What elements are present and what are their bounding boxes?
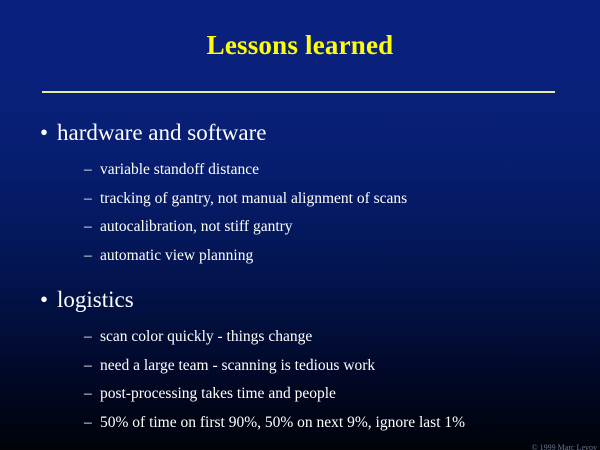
sub-bullet-label: tracking of gantry, not manual alignment… xyxy=(100,190,407,207)
spacer xyxy=(0,270,600,285)
en-dash-icon: – xyxy=(84,352,92,381)
bullet-group-hardware-and-software: • hardware and software – variable stand… xyxy=(0,118,600,270)
en-dash-icon: – xyxy=(84,323,92,352)
title-divider-rule xyxy=(42,91,555,93)
bullet-level1-label: hardware and software xyxy=(57,120,266,145)
sub-bullet-label: 50% of time on first 90%, 50% on next 9%… xyxy=(100,414,465,431)
presentation-slide: Lessons learned • hardware and software … xyxy=(0,0,600,450)
bullet-level1-label: logistics xyxy=(57,287,134,312)
sub-bullet-label: post-processing takes time and people xyxy=(100,385,336,402)
sub-bullet-item: – tracking of gantry, not manual alignme… xyxy=(0,185,600,214)
en-dash-icon: – xyxy=(84,380,92,409)
sub-bullet-item: – variable standoff distance xyxy=(0,156,600,185)
bullet-item-level1: • logistics xyxy=(0,285,600,315)
sub-bullet-list: – variable standoff distance – tracking … xyxy=(0,156,600,270)
en-dash-icon: – xyxy=(84,185,92,214)
sub-bullet-item: – autocalibration, not stiff gantry xyxy=(0,213,600,242)
bullet-dot-icon: • xyxy=(40,118,48,148)
copyright-notice: © 1999 Marc Levoy xyxy=(532,443,597,450)
bullet-item-level1: • hardware and software xyxy=(0,118,600,148)
sub-bullet-item: – need a large team - scanning is tediou… xyxy=(0,352,600,381)
sub-bullet-item: – automatic view planning xyxy=(0,242,600,271)
slide-body: • hardware and software – variable stand… xyxy=(0,118,600,437)
spacer xyxy=(0,315,600,323)
sub-bullet-label: variable standoff distance xyxy=(100,161,259,178)
sub-bullet-item: – 50% of time on first 90%, 50% on next … xyxy=(0,409,600,438)
sub-bullet-label: autocalibration, not stiff gantry xyxy=(100,218,293,235)
bullet-group-logistics: • logistics – scan color quickly - thing… xyxy=(0,285,600,437)
sub-bullet-label: need a large team - scanning is tedious … xyxy=(100,357,375,374)
en-dash-icon: – xyxy=(84,213,92,242)
spacer xyxy=(0,148,600,156)
sub-bullet-label: scan color quickly - things change xyxy=(100,328,312,345)
en-dash-icon: – xyxy=(84,242,92,271)
bullet-dot-icon: • xyxy=(40,285,48,315)
en-dash-icon: – xyxy=(84,156,92,185)
sub-bullet-list: – scan color quickly - things change – n… xyxy=(0,323,600,437)
sub-bullet-item: – scan color quickly - things change xyxy=(0,323,600,352)
slide-title: Lessons learned xyxy=(0,28,600,62)
en-dash-icon: – xyxy=(84,409,92,438)
sub-bullet-label: automatic view planning xyxy=(100,247,253,264)
sub-bullet-item: – post-processing takes time and people xyxy=(0,380,600,409)
